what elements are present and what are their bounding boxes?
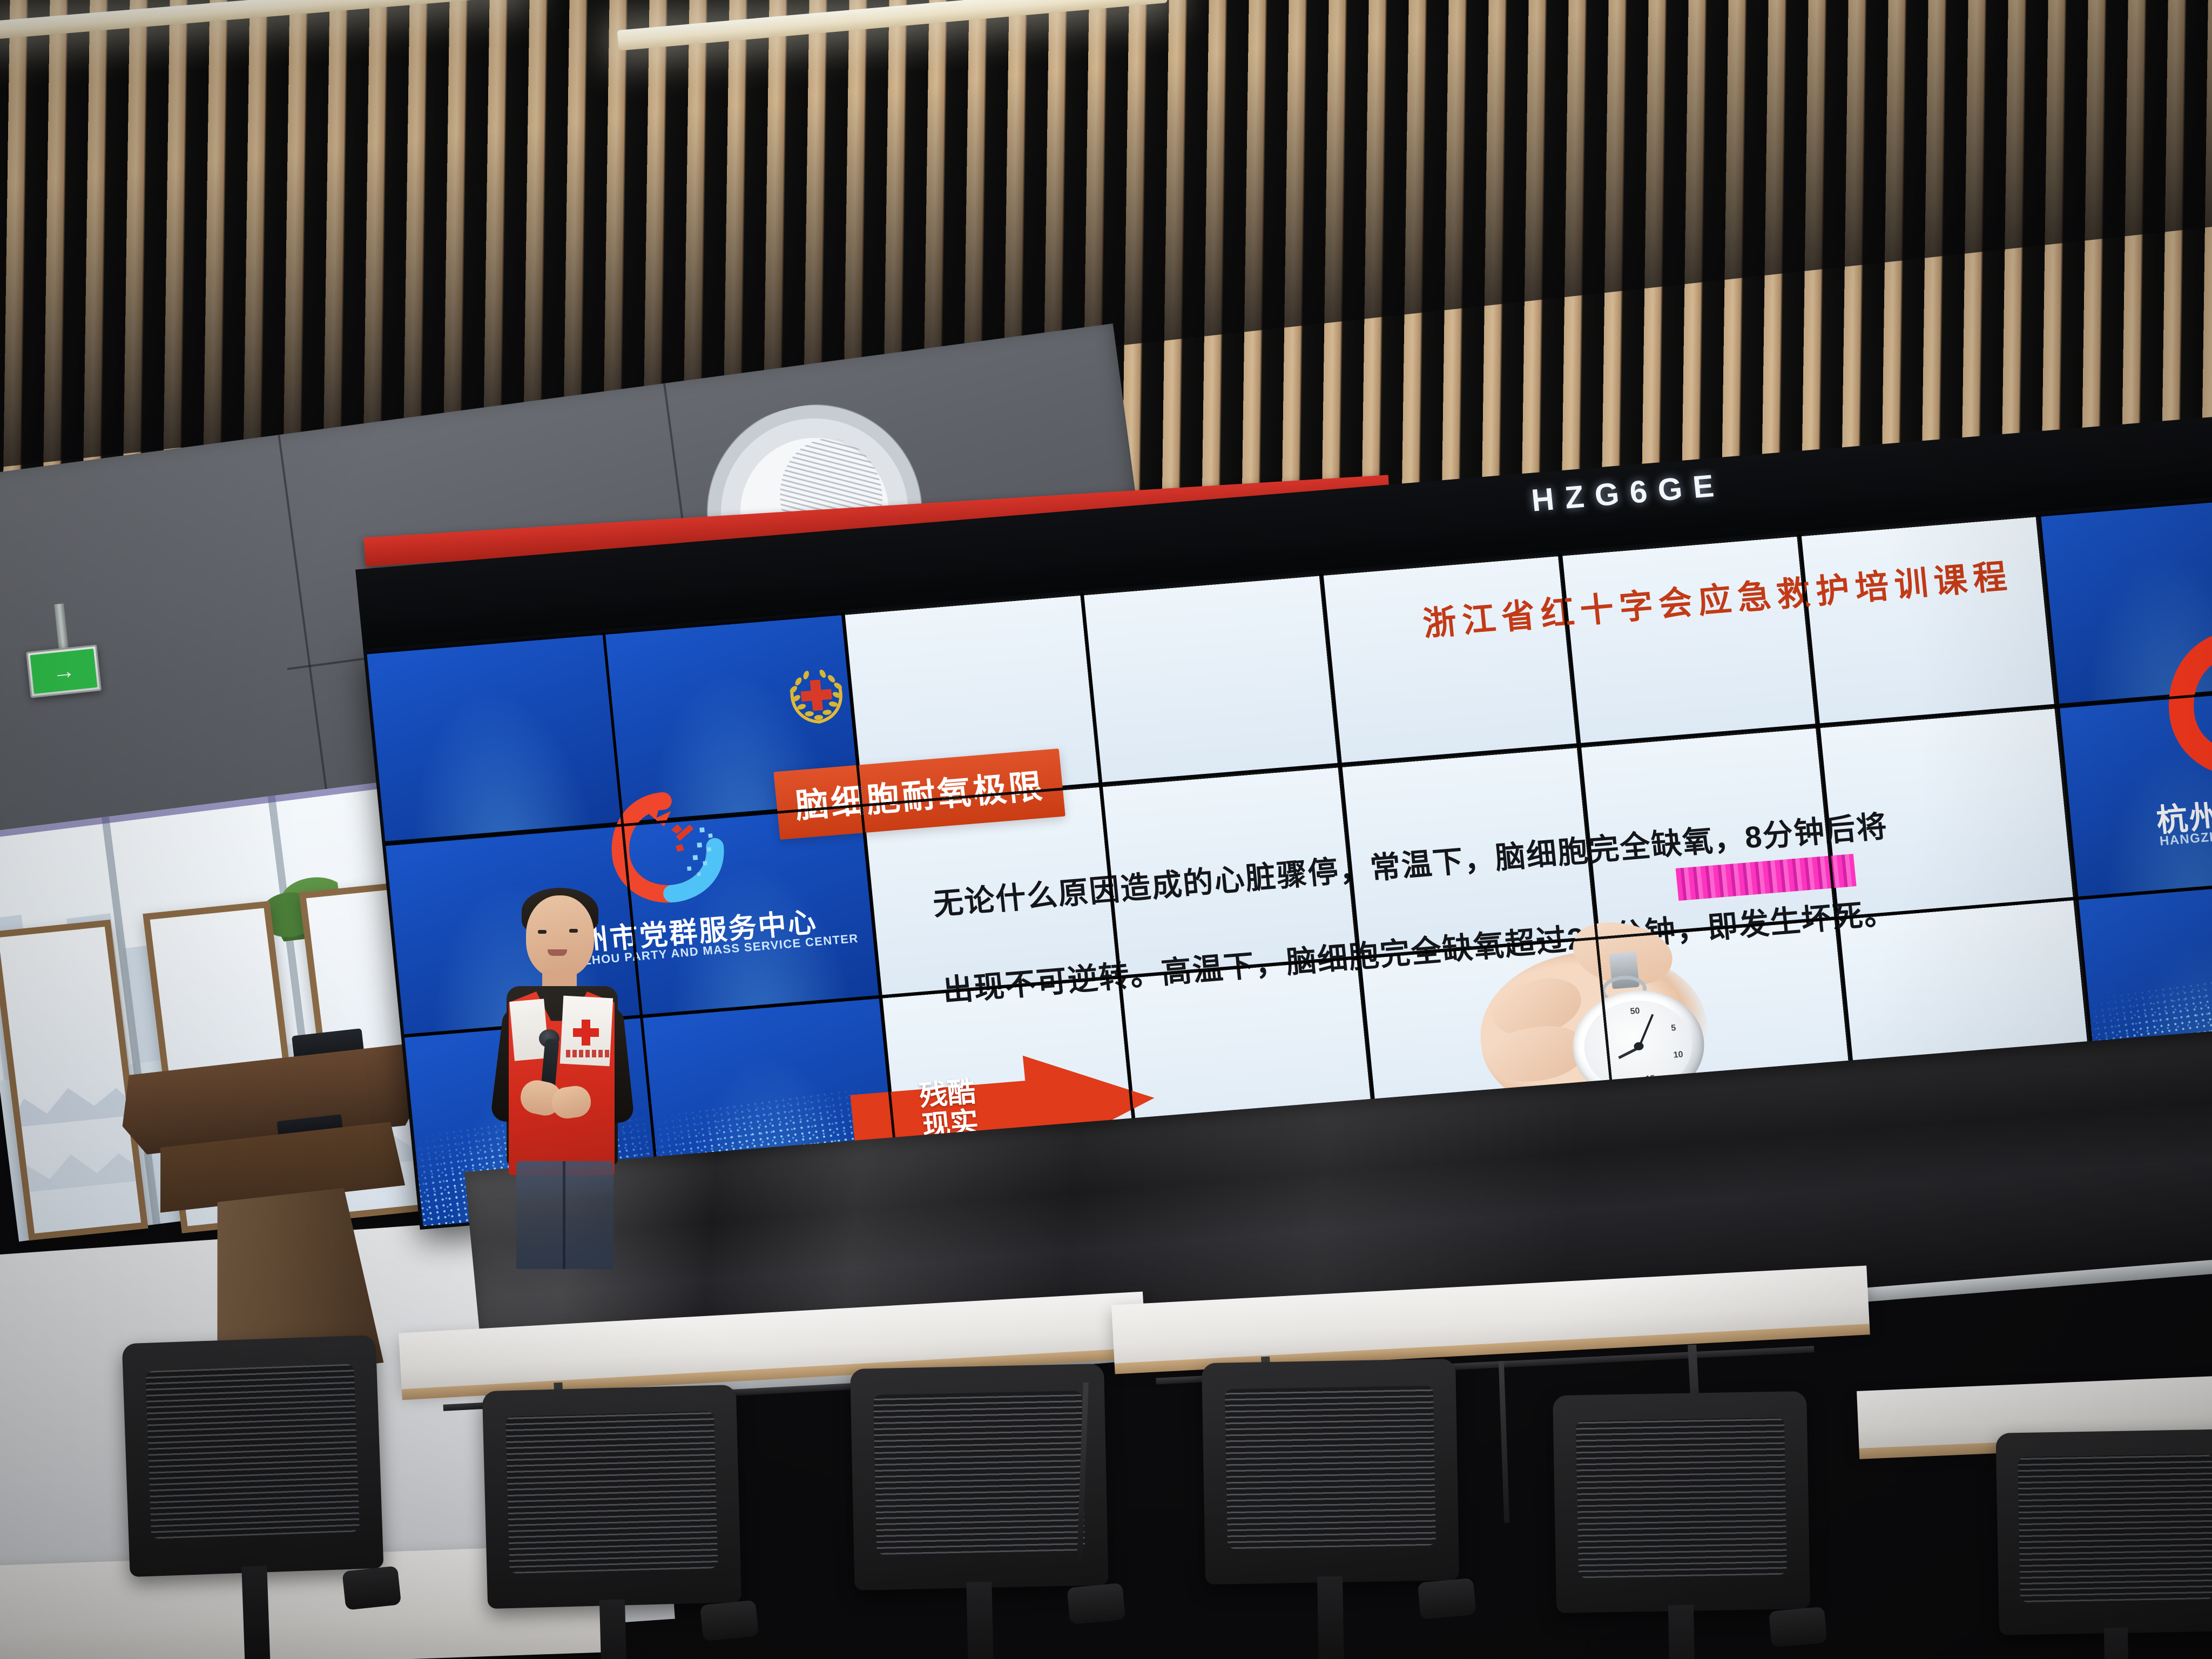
vest-text-strip: [566, 1050, 611, 1057]
wall-tile: [1802, 514, 2056, 724]
chair-stem: [241, 1566, 270, 1659]
chair-mesh: [2018, 1454, 2212, 1603]
chair-armrest: [700, 1600, 759, 1642]
exit-sign-arrow: →: [30, 649, 98, 694]
office-chair[interactable]: [850, 1364, 1110, 1659]
chair-mesh: [146, 1364, 360, 1539]
presenter-eye: [538, 930, 547, 934]
wall-tile: [1581, 726, 1836, 936]
chair-mesh: [873, 1391, 1084, 1554]
emergency-exit-sign: →: [26, 644, 102, 698]
wall-tile: [1342, 746, 1597, 956]
wall-tile: [2059, 687, 2212, 896]
wall-tile: [624, 805, 879, 1015]
office-chair[interactable]: [1553, 1391, 1812, 1659]
microphone-stand: [1499, 1361, 1509, 1523]
wall-tile: [1562, 534, 1817, 744]
office-chair[interactable]: [1995, 1429, 2212, 1659]
chair-mesh: [1225, 1386, 1435, 1549]
wall-tile: [845, 593, 1100, 802]
red-cross-icon: [573, 1028, 599, 1037]
conference-room-photo: → HZG6GE: [0, 0, 2212, 1659]
chair-backrest: [1995, 1429, 2212, 1635]
wall-tile: [2041, 495, 2212, 704]
vest-white-panel: [509, 999, 549, 1061]
chair-armrest: [1067, 1583, 1125, 1624]
chair-backrest: [850, 1364, 1108, 1590]
presenter: [466, 880, 649, 1258]
presenter-jeans: [516, 1161, 613, 1269]
chair-armrest: [1769, 1607, 1827, 1648]
chair-stem: [966, 1582, 994, 1659]
wall-tile: [1103, 766, 1358, 975]
wall-tile: [1820, 707, 2075, 916]
chair-mesh: [1576, 1418, 1786, 1578]
chair-armrest: [1418, 1578, 1476, 1620]
chair-stem: [599, 1599, 627, 1659]
chair-stem: [1668, 1605, 1695, 1659]
wall-tile: [1084, 573, 1339, 783]
wall-tile: [366, 632, 621, 842]
presenter-head: [526, 895, 594, 977]
chair-stem: [2103, 1628, 2129, 1659]
wall-tile: [864, 785, 1118, 995]
chair-backrest: [1202, 1359, 1459, 1585]
office-chair[interactable]: [122, 1335, 387, 1659]
chair-stem: [1317, 1576, 1344, 1659]
presenter-eye: [569, 929, 578, 933]
office-chair[interactable]: [1202, 1359, 1461, 1659]
chair-backrest: [482, 1385, 741, 1609]
wall-tile: [605, 612, 860, 822]
presenter-mouth: [548, 949, 567, 956]
room-sign-text: HZG6GE: [1530, 467, 1727, 519]
soffit-seam: [278, 435, 333, 831]
chair-armrest: [342, 1566, 401, 1610]
office-chair[interactable]: [482, 1385, 744, 1659]
chair-backrest: [122, 1335, 384, 1577]
chair-mesh: [505, 1411, 718, 1573]
chair-backrest: [1553, 1391, 1810, 1613]
wall-tile: [1323, 554, 1578, 763]
